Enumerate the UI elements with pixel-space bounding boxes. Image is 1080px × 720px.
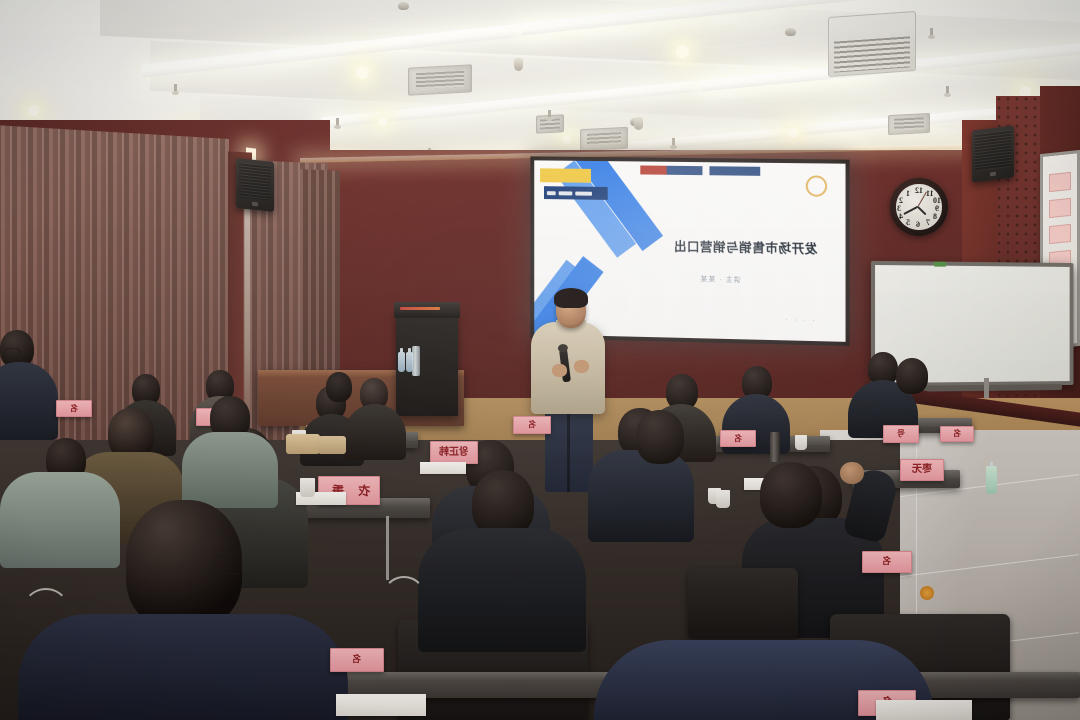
conference-room-photo: 12 11 10 9 8 7 6 5 4 3 2 1	[0, 0, 1080, 720]
air-vent	[580, 127, 628, 152]
ceiling-ac-unit	[828, 11, 916, 77]
downlight-glow	[340, 50, 386, 96]
name-placard: 왕正韩	[430, 441, 478, 464]
audience-head	[326, 372, 352, 402]
ceiling-speaker	[514, 58, 523, 71]
smoke-detector	[398, 2, 409, 10]
ceiling-downlight	[378, 117, 387, 126]
name-placard: 名	[720, 430, 756, 447]
sprinkler-head	[548, 110, 551, 119]
desk-leg	[386, 516, 389, 580]
clock-minute-hand	[904, 206, 919, 215]
audience-body	[344, 404, 406, 460]
smoke-detector	[785, 28, 796, 36]
snack-box	[286, 434, 320, 454]
ceiling-speaker	[634, 117, 643, 130]
amplifier-unit	[394, 302, 460, 318]
notebook-paper	[876, 700, 972, 720]
notice-sheet	[1049, 198, 1071, 218]
slide-subtitle: 讲主 · 某某	[660, 273, 780, 285]
downlight-glow	[660, 29, 706, 75]
sprinkler-head	[930, 28, 933, 37]
air-vent	[408, 64, 472, 95]
slide-page-dots: · · · ·	[785, 315, 817, 325]
paper-cup	[300, 478, 315, 497]
audience-head	[896, 358, 928, 394]
name-placard: 号	[883, 425, 919, 443]
slide-yellow-block	[540, 168, 591, 182]
sprinkler-head	[174, 84, 177, 93]
clock-numeral: 1	[906, 189, 910, 198]
snack-box	[318, 436, 346, 454]
name-placard: 名	[940, 426, 974, 442]
notebook-paper	[420, 462, 466, 474]
audience-body	[418, 528, 586, 652]
thermos-flask	[770, 432, 780, 462]
clock-numeral: 5	[906, 218, 910, 227]
eyeglasses	[214, 556, 242, 574]
audience-head	[636, 410, 684, 464]
slide-title: 发开场市售销与销营口出	[660, 236, 831, 258]
name-placard: 名	[56, 400, 92, 417]
sprinkler-head	[672, 138, 675, 147]
audience-head	[760, 462, 822, 528]
clock-face: 12 11 10 9 8 7 6 5 4 3 2 1	[896, 184, 941, 229]
sprinkler-head	[946, 86, 949, 95]
water-bottle	[406, 352, 413, 372]
ceiling-downlight	[788, 128, 798, 138]
water-bottle-on-floor	[986, 466, 997, 494]
presenter-legs	[545, 408, 593, 492]
name-placard: 名	[862, 551, 912, 573]
presenter-hair	[554, 288, 588, 308]
office-chair[interactable]	[688, 568, 798, 638]
paper-cup	[716, 490, 730, 508]
ceiling-downlight	[562, 136, 571, 145]
wall-clock: 12 11 10 9 8 7 6 5 4 3 2 1	[890, 178, 948, 236]
ceiling-downlight	[28, 105, 39, 116]
slide-top-banner	[640, 165, 760, 175]
wall-speaker	[236, 158, 274, 212]
presenter-hand-left	[552, 364, 567, 377]
audience-body	[588, 450, 694, 542]
audience-body	[0, 472, 120, 568]
water-bottle	[398, 352, 405, 372]
hand-on-head	[840, 462, 864, 484]
notebook-paper	[336, 694, 426, 716]
audience-body	[182, 432, 278, 508]
clock-numeral: 3	[897, 204, 901, 213]
name-placard: 名	[513, 416, 551, 434]
thermos-flask	[412, 346, 420, 376]
slide-navy-tag	[544, 186, 608, 200]
chair-caster-base	[22, 588, 70, 636]
notice-sheet	[1049, 224, 1071, 244]
slide-seal-icon	[806, 175, 827, 196]
clock-hour-hand	[918, 207, 927, 216]
clock-numeral: 8	[933, 212, 937, 221]
clock-numeral: 6	[916, 220, 920, 229]
audience-body	[0, 362, 58, 440]
whiteboard-magnet	[934, 262, 946, 267]
air-vent	[888, 113, 930, 135]
clock-numeral: 7	[926, 218, 930, 227]
clock-numeral: 2	[899, 196, 903, 205]
name-placard: 名	[330, 648, 384, 672]
sprinkler-head	[336, 118, 339, 127]
clock-numeral: 12	[915, 186, 923, 195]
audience-body	[18, 614, 348, 720]
presenter-hand-right	[574, 360, 589, 373]
jacket-logo-badge	[920, 586, 934, 600]
paper-cup	[795, 435, 807, 450]
chair-caster-base	[382, 576, 426, 620]
wall-speaker	[972, 125, 1014, 182]
notice-sheet	[1049, 172, 1071, 192]
name-placard: 枣无	[900, 459, 944, 481]
eyeglasses	[4, 348, 20, 358]
